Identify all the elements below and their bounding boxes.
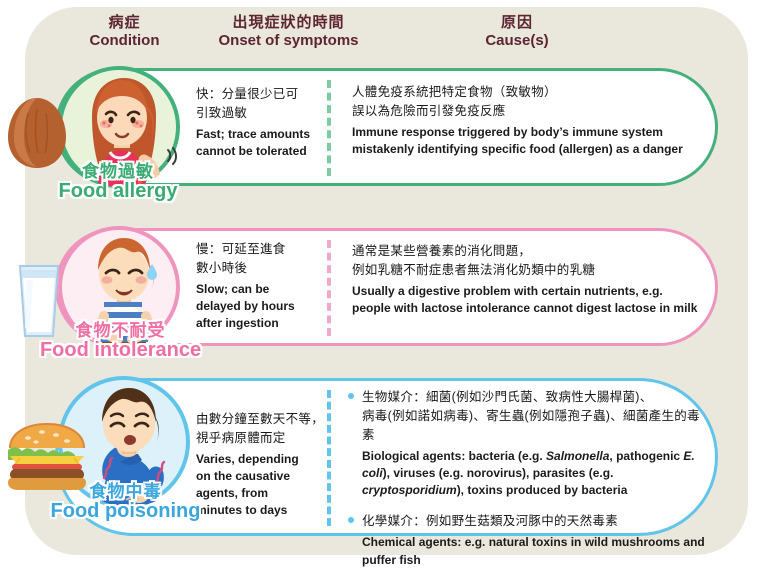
label-food-intolerance-zh: 食物不耐受 [8,322,233,340]
onset-allergy-en2: cannot be tolerated [196,144,307,158]
label-food-intolerance: 食物不耐受 Food intolerance [8,322,233,361]
bio-zh1: 生物媒介：細菌(例如沙門氏菌、致病性大腸桿菌)、 [362,390,653,404]
onset-intolerance-zh2: 數小時後 [196,261,247,275]
bio-en-p4: ), toxins produced by bacteria [457,483,628,497]
onset-intolerance-en1: Slow; can be [196,282,269,296]
onset-food-intolerance: 慢：可延至進食 數小時後 Slow; can be delayed by hou… [196,240,322,332]
bio-en-i1: Salmonella [546,449,609,463]
cause-food-intolerance: 通常是某些營養素的消化問題， 例如乳糖不耐症患者無法消化奶類中的乳糖 Usual… [352,242,700,317]
header-onset-zh: 出現症狀的時間 [186,14,391,32]
cause-intolerance-zh1: 通常是某些營養素的消化問題， [352,244,531,258]
onset-poisoning-en2: on the causative [196,469,290,483]
divider-poisoning [327,390,331,526]
divider-intolerance [327,240,331,336]
onset-poisoning-zh2: 視乎病原體而定 [196,431,286,445]
header-cause-zh: 原因 [392,14,642,32]
header-onset: 出現症狀的時間 Onset of symptoms [186,14,391,49]
label-food-intolerance-en: Food intolerance [8,340,233,361]
bullet-dot-icon [348,393,354,399]
bio-zh2: 病毒(例如諾如病毒)、寄生蟲(例如隱孢子蟲)、細菌產生的毒素 [362,409,700,442]
onset-allergy-zh1: 快：分量很少已可 [196,87,298,101]
label-food-poisoning-en: Food poisoning [18,501,233,522]
hamburger-icon [4,420,90,492]
header-cause: 原因 Cause(s) [392,14,642,49]
header-cause-en: Cause(s) [392,32,642,50]
cause-bullet-biological: 生物媒介：細菌(例如沙門氏菌、致病性大腸桿菌)、 病毒(例如諾如病毒)、寄生蟲(… [348,388,708,499]
onset-intolerance-zh1: 慢：可延至進食 [196,242,286,256]
infographic-canvas: 病症 Condition 出現症狀的時間 Onset of symptoms 原… [0,0,759,569]
cause-allergy-zh2: 誤以為危險而引發免疫反應 [352,104,506,118]
cause-food-allergy: 人體免疫系統把特定食物（致敏物） 誤以為危險而引發免疫反應 Immune res… [352,83,697,158]
header-condition-en: Condition [62,32,187,50]
label-food-poisoning: 食物中毒 Food poisoning [18,483,233,522]
label-food-allergy-en: Food allergy [18,181,218,202]
bio-en-p1: Biological agents: bacteria (e.g. [362,449,546,463]
chem-en: Chemical agents: e.g. natural toxins in … [362,534,708,568]
onset-intolerance-en2: delayed by hours [196,299,295,313]
bullet-dot-icon [348,517,354,523]
divider-allergy [327,80,331,176]
label-food-poisoning-zh: 食物中毒 [18,483,233,501]
label-food-allergy: 食物過敏 Food allergy [18,163,218,202]
bio-en-i3: cryptosporidium [362,483,457,497]
cause-allergy-en: Immune response triggered by body’s immu… [352,124,697,158]
onset-allergy-zh2: 引致過敏 [196,106,247,120]
header-onset-en: Onset of symptoms [186,32,391,50]
header-condition: 病症 Condition [62,14,187,49]
header-condition-zh: 病症 [62,14,187,32]
cause-food-poisoning: 生物媒介：細菌(例如沙門氏菌、致病性大腸桿菌)、 病毒(例如諾如病毒)、寄生蟲(… [348,388,708,569]
onset-poisoning-en1: Varies, depending [196,452,299,466]
bio-en: Biological agents: bacteria (e.g. Salmon… [362,448,708,499]
cause-allergy-zh1: 人體免疫系統把特定食物（致敏物） [352,85,557,99]
cause-bullet-chemical: 化學媒介：例如野生菇類及河豚中的天然毒素 Chemical agents: e.… [348,512,708,568]
cause-intolerance-en: Usually a digestive problem with certain… [352,283,700,317]
bio-en-p3: ), viruses (e.g. norovirus), parasites (… [383,466,614,480]
onset-poisoning-zh1: 由數分鐘至數天不等， [196,412,324,426]
chem-zh1: 化學媒介：例如野生菇類及河豚中的天然毒素 [362,512,708,531]
almond-icon [6,95,68,171]
bio-en-p2: , pathogenic [609,449,683,463]
onset-food-allergy: 快：分量很少已可 引致過敏 Fast; trace amounts cannot… [196,85,322,160]
onset-allergy-en1: Fast; trace amounts [196,127,310,141]
label-food-allergy-zh: 食物過敏 [18,163,218,181]
cause-intolerance-zh2: 例如乳糖不耐症患者無法消化奶類中的乳糖 [352,263,595,277]
